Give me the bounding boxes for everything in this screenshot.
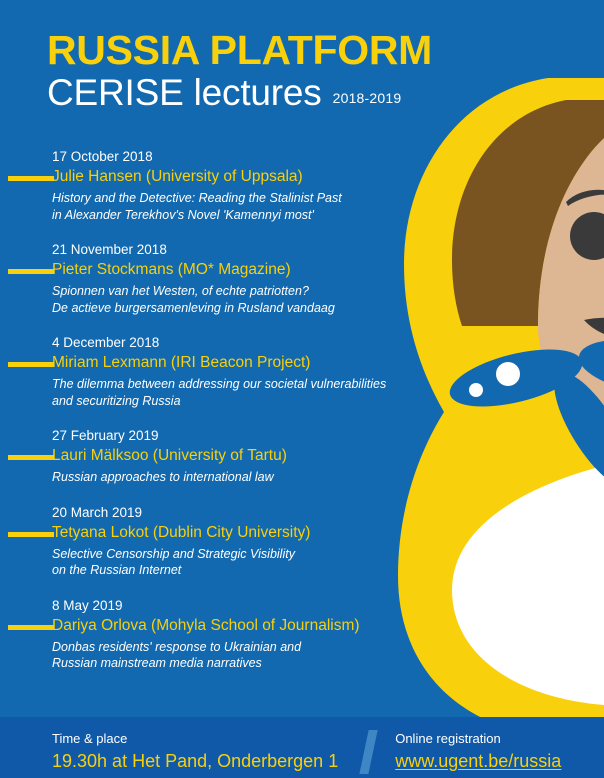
doll-floral-decoration — [444, 330, 604, 497]
lecture-topic-line: The dilemma between addressing our socie… — [52, 376, 420, 393]
academic-years-label: 2018-2019 — [333, 90, 402, 106]
list-item: 8 May 2019 Dariya Orlova (Mohyla School … — [0, 597, 420, 672]
list-item: 21 November 2018 Pieter Stockmans (MO* M… — [0, 241, 420, 316]
list-item: 17 October 2018 Julie Hansen (University… — [0, 148, 420, 223]
lecture-speaker: Miriam Lexmann (IRI Beacon Project) — [52, 354, 310, 371]
footer-content: Time & place 19.30h at Het Pand, Onderbe… — [52, 730, 561, 774]
registration-label: Online registration — [395, 730, 561, 748]
dash-marker-icon — [8, 269, 54, 274]
dash-marker-icon — [8, 176, 54, 181]
lecture-speaker-row: Tetyana Lokot (Dublin City University) — [52, 522, 420, 545]
lecture-topic-line: Selective Censorship and Strategic Visib… — [52, 546, 420, 563]
lecture-speaker-row: Pieter Stockmans (MO* Magazine) — [52, 259, 420, 282]
list-item: 4 December 2018 Miriam Lexmann (IRI Beac… — [0, 334, 420, 409]
doll-petal-left — [444, 338, 588, 417]
doll-smile — [584, 318, 604, 340]
page-title: RUSSIA PLATFORM — [47, 28, 477, 72]
registration-url-link[interactable]: www.ugent.be/russia — [395, 749, 561, 773]
lecture-date: 8 May 2019 — [52, 597, 420, 615]
lecture-date: 4 December 2018 — [52, 334, 420, 352]
matryoshka-doll-illustration — [398, 78, 604, 738]
registration-block: Online registration www.ugent.be/russia — [395, 730, 561, 773]
list-item: 27 February 2019 Lauri Mälksoo (Universi… — [0, 427, 420, 486]
dash-marker-icon — [8, 532, 54, 537]
lecture-topic-line: De actieve burgersamenleving in Rusland … — [52, 300, 420, 317]
doll-petal-lower — [540, 362, 604, 497]
lecture-speaker-row: Miriam Lexmann (IRI Beacon Project) — [52, 352, 420, 375]
lecture-date: 21 November 2018 — [52, 241, 420, 259]
doll-petal-dot-2 — [469, 383, 483, 397]
doll-petal-right — [575, 330, 604, 406]
doll-body-shape — [398, 78, 604, 738]
lecture-topic-line: Russian approaches to international law — [52, 469, 420, 486]
lecture-topic-line: Russian mainstream media narratives — [52, 655, 420, 672]
poster-header: RUSSIA PLATFORM CERISE lectures 2018-201… — [47, 28, 477, 113]
dash-marker-icon — [8, 455, 54, 460]
doll-hair — [452, 100, 604, 326]
lecture-topic-line: on the Russian Internet — [52, 562, 420, 579]
lecture-topic-line: History and the Detective: Reading the S… — [52, 190, 420, 207]
lecture-speaker-row: Dariya Orlova (Mohyla School of Journali… — [52, 615, 420, 638]
subtitle-row: CERISE lectures 2018-2019 — [47, 73, 477, 113]
time-and-place-value: 19.30h at Het Pand, Onderbergen 1 — [52, 749, 338, 773]
list-item: 20 March 2019 Tetyana Lokot (Dublin City… — [0, 504, 420, 579]
doll-eye — [570, 212, 604, 260]
lecture-date: 20 March 2019 — [52, 504, 420, 522]
time-and-place-block: Time & place 19.30h at Het Pand, Onderbe… — [52, 730, 338, 773]
doll-face — [538, 100, 604, 418]
page-subtitle: CERISE lectures — [47, 73, 322, 113]
poster-footer: Time & place 19.30h at Het Pand, Onderbe… — [0, 717, 604, 778]
dash-marker-icon — [8, 625, 54, 630]
lecture-topic: Selective Censorship and Strategic Visib… — [52, 546, 420, 579]
lecture-topic: Donbas residents' response to Ukrainian … — [52, 639, 420, 672]
poster: RUSSIA PLATFORM CERISE lectures 2018-201… — [0, 0, 604, 778]
doll-apron — [452, 450, 604, 706]
time-and-place-label: Time & place — [52, 730, 338, 748]
lecture-topic-line: and securitizing Russia — [52, 393, 420, 410]
lecture-topic: Russian approaches to international law — [52, 469, 420, 486]
lecture-speaker-row: Lauri Mälksoo (University of Tartu) — [52, 445, 420, 468]
doll-petal-dot-1 — [496, 362, 520, 386]
lecture-topic: The dilemma between addressing our socie… — [52, 376, 420, 409]
lecture-speaker: Lauri Mälksoo (University of Tartu) — [52, 447, 287, 464]
lecture-topic: Spionnen van het Westen, of echte patrio… — [52, 283, 420, 316]
doll-eyebrow — [566, 190, 604, 206]
lecture-date: 27 February 2019 — [52, 427, 420, 445]
footer-divider-slash — [360, 730, 378, 774]
dash-marker-icon — [8, 362, 54, 367]
lecture-speaker: Julie Hansen (University of Uppsala) — [52, 168, 303, 185]
lecture-speaker: Dariya Orlova (Mohyla School of Journali… — [52, 617, 360, 634]
lecture-speaker-row: Julie Hansen (University of Uppsala) — [52, 166, 420, 189]
lecture-date: 17 October 2018 — [52, 148, 420, 166]
lecture-speaker: Tetyana Lokot (Dublin City University) — [52, 524, 310, 541]
lecture-topic-line: in Alexander Terekhov's Novel 'Kamennyi … — [52, 207, 420, 224]
lecture-speaker: Pieter Stockmans (MO* Magazine) — [52, 261, 291, 278]
lecture-list: 17 October 2018 Julie Hansen (University… — [0, 148, 420, 690]
lecture-topic-line: Donbas residents' response to Ukrainian … — [52, 639, 420, 656]
lecture-topic-line: Spionnen van het Westen, of echte patrio… — [52, 283, 420, 300]
lecture-topic: History and the Detective: Reading the S… — [52, 190, 420, 223]
